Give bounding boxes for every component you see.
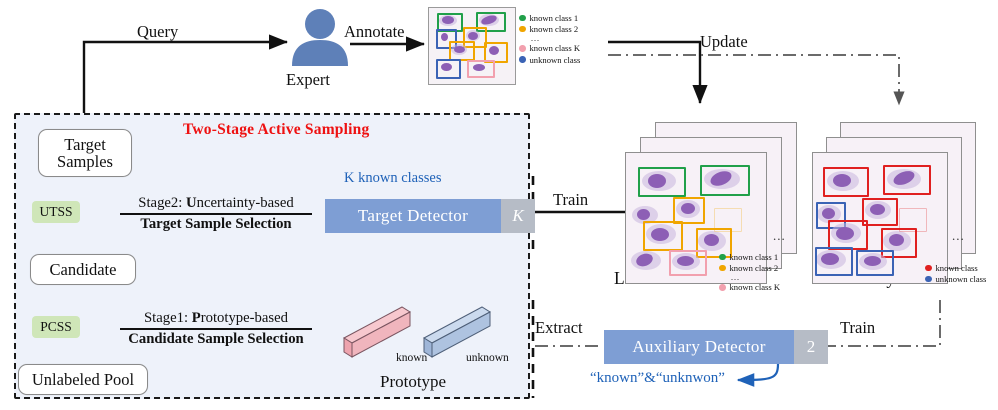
stage2-bold: U <box>186 195 197 211</box>
legend-label: known class 2 <box>730 263 779 273</box>
legend-dot-known-class-k <box>719 284 726 291</box>
legend-label: known class 1 <box>530 13 579 23</box>
legend-label: known class <box>936 263 978 273</box>
annotate-label: Annotate <box>344 22 404 42</box>
target-samples-box[interactable]: Target Samples <box>38 129 132 177</box>
known-unknown-annotation: “known”&“unknwon” <box>590 370 725 387</box>
stage1-divider <box>120 328 312 330</box>
target-detector-count: K <box>501 199 535 233</box>
legend-label: known class K <box>730 282 781 292</box>
legend-item: unknown class <box>925 274 986 284</box>
stage2-rest: ncertainty-based <box>197 195 294 211</box>
legend-dot-known-class-2 <box>719 265 726 272</box>
extract-label: Extract <box>535 318 583 338</box>
legend-label: unknown class <box>530 55 581 65</box>
pcss-badge[interactable]: PCSS <box>32 316 80 338</box>
legend-dot-unknown-class <box>519 56 526 63</box>
legend-item: known class 1 <box>519 13 580 23</box>
labeled-pool-legend: known class 1 known class 2 ... known cl… <box>719 252 780 293</box>
legend-item: known class K <box>519 43 580 53</box>
legend-ellipsis: ... <box>519 35 580 42</box>
annotated-image-thumbnail <box>428 7 516 85</box>
legend-item: known class 2 <box>519 24 580 34</box>
legend-item: unknown class <box>519 55 580 65</box>
stage2-prefix: Stage2: <box>138 195 186 211</box>
legend-dot-known-class-1 <box>519 15 526 22</box>
train-auxiliary-label: Train <box>840 318 875 338</box>
expert-label: Expert <box>286 70 330 90</box>
legend-label: known class 1 <box>730 252 779 262</box>
prototype-unknown-bar <box>424 307 490 357</box>
update-label: Update <box>700 32 748 52</box>
auxiliary-detector[interactable]: Auxiliary Detector 2 <box>604 330 828 364</box>
train-target-label: Train <box>553 190 588 210</box>
legend-item: known class <box>925 263 986 273</box>
stage1-rest: rototype-based <box>201 310 288 326</box>
prototype-bars <box>340 305 530 365</box>
expert-icon <box>290 8 350 66</box>
stage2-caption: Stage2: Uncertainty-based Target Sample … <box>120 195 312 233</box>
auxiliary-detector-label: Auxiliary Detector <box>604 330 794 364</box>
unlabeled-pool-box[interactable]: Unlabeled Pool <box>18 364 148 395</box>
legend-label: unknown class <box>936 274 987 284</box>
legend-item: known class 1 <box>719 252 780 262</box>
legend-item: known class K <box>719 282 780 292</box>
target-detector[interactable]: Target Detector K <box>325 199 535 233</box>
utss-badge[interactable]: UTSS <box>32 201 80 223</box>
auxiliary-pool-ellipsis: ... <box>952 228 965 244</box>
query-label: Query <box>137 22 178 42</box>
labeled-pool-ellipsis: ... <box>773 228 786 244</box>
legend-dot-known-class-k <box>519 45 526 52</box>
legend-label: known class 2 <box>530 24 579 34</box>
prototype-known-bar <box>344 307 410 357</box>
k-known-classes-annotation: K known classes <box>344 170 441 187</box>
stage1-caption: Stage1: Prototype-based Candidate Sample… <box>120 310 312 348</box>
legend-dot-unknown-class <box>925 276 932 283</box>
panel-title: Two-Stage Active Sampling <box>183 121 369 139</box>
auxiliary-detector-count: 2 <box>794 330 828 364</box>
annotate-legend: known class 1 known class 2 ... known cl… <box>519 13 580 65</box>
legend-dot-known-class-1 <box>719 254 726 261</box>
stage1-prefix: Stage1: <box>144 310 192 326</box>
legend-item: known class 2 <box>719 263 780 273</box>
legend-dot-known-class-2 <box>519 26 526 33</box>
stage1-line2: Candidate Sample Selection <box>128 331 303 347</box>
target-detector-label: Target Detector <box>325 199 501 233</box>
candidate-box[interactable]: Candidate <box>30 254 136 285</box>
diagram-canvas: Two-Stage Active Sampling Target Samples… <box>0 0 998 410</box>
prototype-title: Prototype <box>380 372 446 392</box>
stage1-bold: P <box>192 310 201 326</box>
stage2-line2: Target Sample Selection <box>140 216 291 232</box>
legend-label: known class K <box>530 43 581 53</box>
target-samples-line1: Target <box>64 136 106 153</box>
legend-ellipsis: ... <box>719 274 780 281</box>
auxiliary-pool-legend: known class unknown class <box>925 263 986 284</box>
legend-dot-known-class <box>925 265 932 272</box>
stage2-divider <box>120 213 312 215</box>
target-samples-line2: Samples <box>57 153 113 170</box>
